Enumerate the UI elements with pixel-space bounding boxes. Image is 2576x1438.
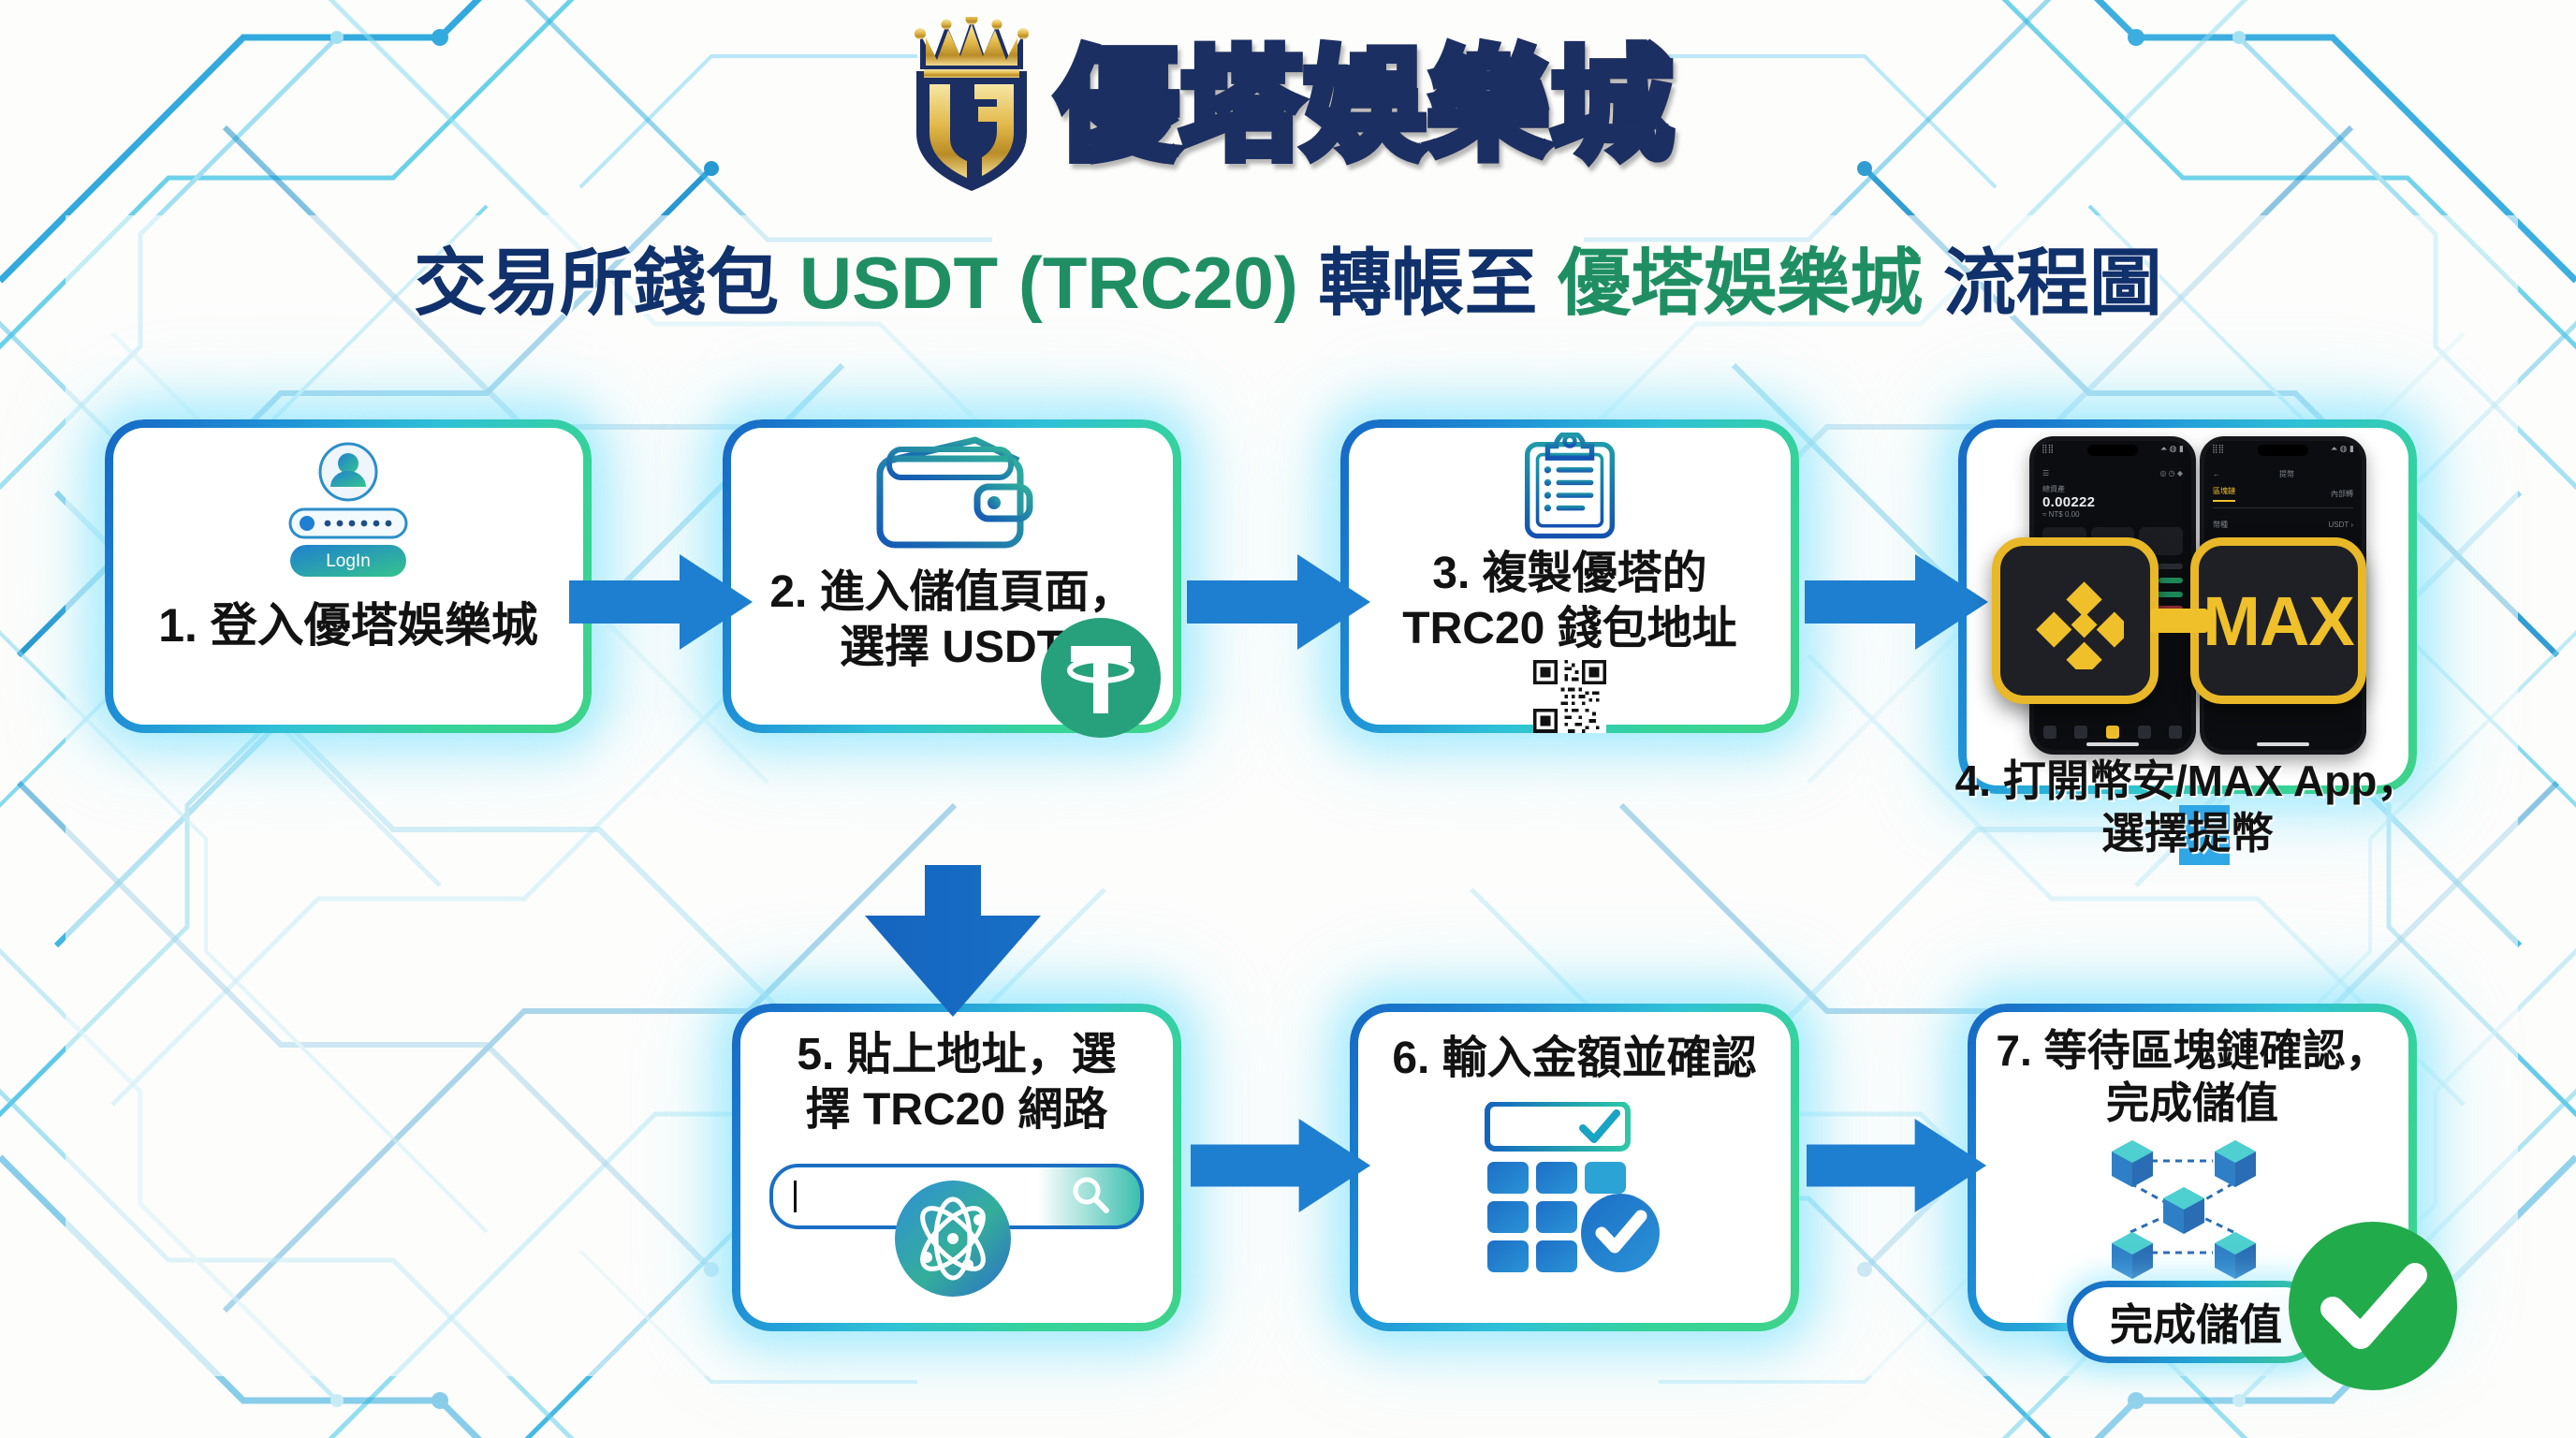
qr-code-icon [1529,660,1610,733]
title-part-5: 流程圖 [1923,242,2162,324]
step-1-text: 1. 登入優塔娛樂城 [158,597,538,654]
arrow-step3-to-step4 [1805,550,1992,653]
step-6-text: 6. 輸入金額並確認 [1392,1032,1756,1087]
step-5-line-1: 5. 貼上地址，選 [797,1028,1116,1083]
max-logo-icon: MAX [2190,537,2366,704]
binance-logo-icon [1992,537,2159,704]
phone-statusbar-2: ⣿⣿⏶ ◍ ▮ [2212,444,2354,457]
step-card-6[interactable]: 6. 輸入金額並確認 [1350,1004,1799,1331]
arrow-step6-to-step7 [1807,1114,1990,1217]
step-7-line-1: 7. 等待區塊鏈確認， [1996,1024,2388,1077]
tether-usdt-logo-icon [1039,616,1163,740]
phone-balance-value: 0.00222 [2042,494,2183,510]
max-logo-bar [2150,609,2208,633]
green-check-circle-icon [2284,1217,2462,1395]
step-4-line-2: 選擇提幣 [1930,807,2445,859]
step-card-3[interactable]: 3. 複製優塔的 TRC20 錢包地址 [1340,419,1799,733]
phone-statusbar: ⣿⣿⏶ ◍ ▮ [2042,444,2184,457]
login-user-icon: LogIn [208,440,489,590]
binance-diamond-glyph [2027,572,2124,669]
login-button-label: LogIn [326,551,371,571]
title-part-3: 轉帳至 [1298,242,1558,324]
arrow-step2-to-step3 [1187,550,1374,653]
crown-shield-emblem-icon [901,17,1042,195]
blockchain-cubes-icon [2108,1135,2276,1284]
step-card-5[interactable]: 5. 貼上地址，選 擇 TRC20 網路 [732,1004,1181,1331]
arrow-step5-to-step6 [1191,1114,1374,1217]
magnifier-icon[interactable] [1071,1175,1110,1214]
search-input-caret [794,1181,797,1212]
step-7-text: 7. 等待區塊鏈確認， 完成儲值 [1996,1024,2388,1129]
status-badge-label: 完成儲值 [2110,1291,2282,1353]
step-7-line-2: 完成儲值 [1996,1077,2388,1129]
brand-logo: 優塔娛樂城 [0,17,2576,195]
step-3-line-1: 3. 複製優塔的 [1402,547,1736,602]
page-title: 交易所錢包 USDT (TRC20) 轉帳至 優塔娛樂城 流程圖 [0,245,2576,322]
max-logo-label: MAX [2203,581,2353,661]
step-card-1[interactable]: LogIn 1. 登入優塔娛樂城 [105,419,592,733]
title-part-usdt: USDT (TRC20) [799,242,1298,324]
clipboard-list-icon [1514,433,1626,541]
arrow-step1-to-step2 [569,550,756,653]
title-part-brand: 優塔娛樂城 [1558,242,1923,324]
brand-name: 優塔娛樂城 [1057,45,1675,167]
step-3-text: 3. 複製優塔的 TRC20 錢包地址 [1402,547,1736,656]
atom-network-icon [893,1179,1013,1299]
step-5-line-2: 擇 TRC20 網路 [797,1083,1116,1138]
step-3-line-2: TRC20 錢包地址 [1402,602,1736,657]
step-4-text: 4. 打開幣安/MAX App， 選擇提幣 [1930,755,2445,859]
step-5-text: 5. 貼上地址，選 擇 TRC20 網路 [797,1028,1116,1137]
keypad-calculator-icon [1478,1102,1671,1280]
wallet-icon [863,433,1041,562]
title-part-1: 交易所錢包 [414,242,799,324]
step-4-line-1: 4. 打開幣安/MAX App， [1930,755,2445,807]
step-card-2[interactable]: 2. 進入儲值頁面， 選擇 USDT [723,419,1181,733]
step-2-line-1: 2. 進入儲值頁面， [769,565,1134,621]
step-card-4[interactable]: ⣿⣿⏶ ◍ ▮ ☰◎ ◷ ◆ 總資產 0.00222 ≈ NT$ 0.00 [1958,419,2417,794]
